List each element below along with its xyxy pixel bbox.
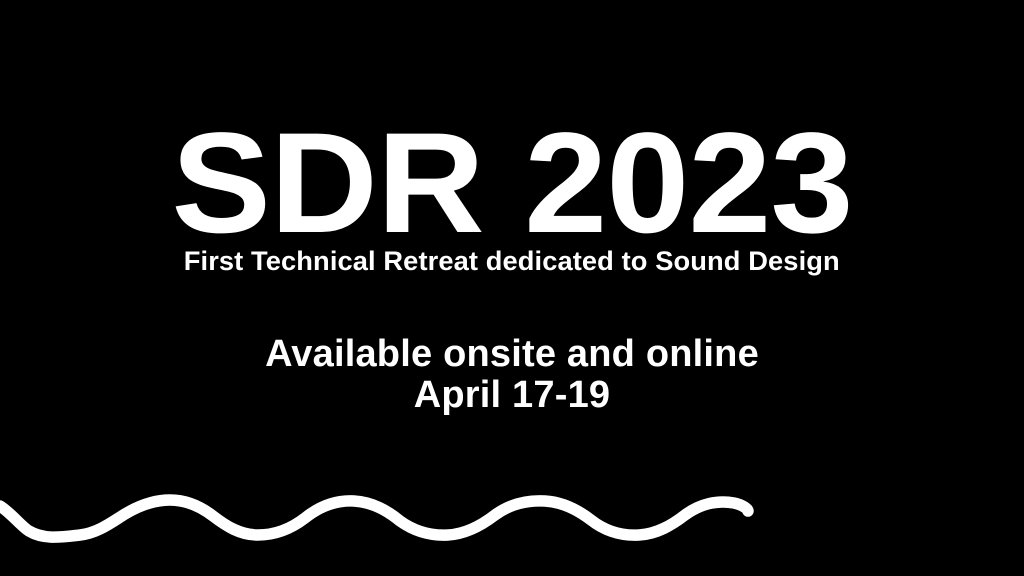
availability-container: Available onsite and online April 17-19 [0,334,1024,416]
availability-line-2: April 17-19 [0,375,1024,416]
wave-decoration-container [0,480,1024,576]
presentation-slide: SDR 2023 First Technical Retreat dedicat… [0,0,1024,576]
availability-line-1: Available onsite and online [0,334,1024,375]
page-subtitle: First Technical Retreat dedicated to Sou… [184,247,840,277]
title-container: SDR 2023 [0,112,1024,255]
sine-wave-icon [0,480,1024,576]
subtitle-container: First Technical Retreat dedicated to Sou… [0,247,1024,277]
page-title: SDR 2023 [171,112,852,255]
